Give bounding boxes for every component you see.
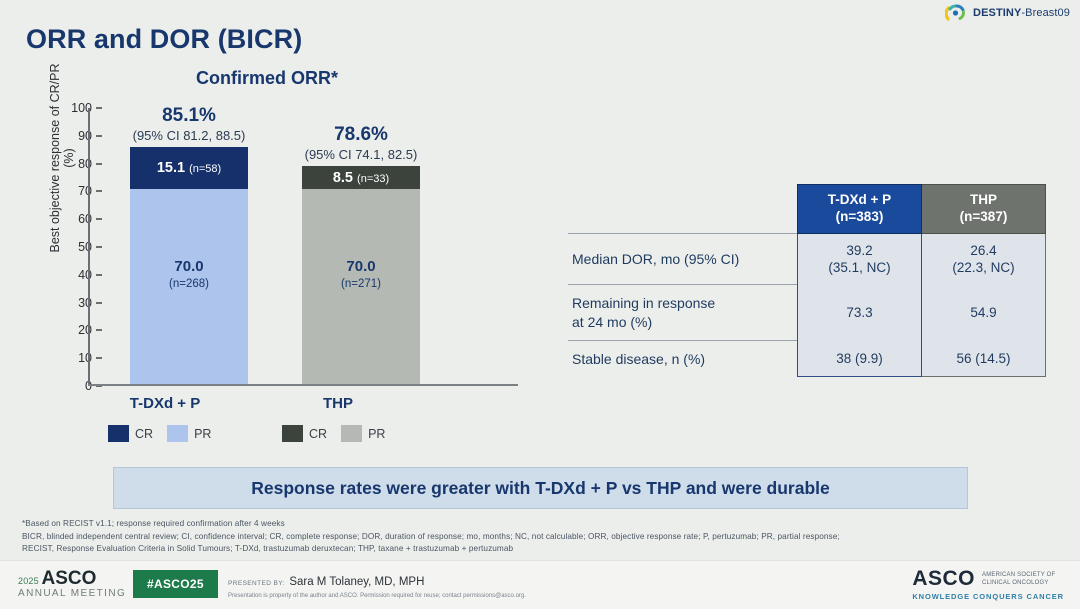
group-label-thp: THP	[248, 395, 428, 412]
y-tick-label: 30	[48, 296, 92, 310]
table-row-label-stable-disease: Stable disease, n (%)	[568, 340, 798, 377]
table-cell-stable-disease-thp: 56 (14.5)	[922, 340, 1046, 377]
bar-segment-pr-2-label: 70.0(n=271)	[302, 257, 420, 293]
chart-title: Confirmed ORR*	[196, 68, 338, 89]
legend-group-1: CR PR	[108, 425, 219, 442]
dor-table: T-DXd + P(n=383) THP(n=387) Median DOR, …	[568, 184, 1046, 377]
table-header-row: T-DXd + P(n=383) THP(n=387)	[568, 185, 1046, 234]
page-title: ORR and DOR (BICR)	[26, 24, 302, 55]
group-label-t-dxd-p: T-DXd + P	[75, 395, 255, 412]
legend-swatch-cr-1	[108, 425, 129, 442]
y-tick-mark	[96, 163, 102, 165]
table-cell-stable-disease-t-dxd-p: 38 (9.9)	[798, 340, 922, 377]
y-tick-mark	[96, 302, 102, 304]
key-message-banner: Response rates were greater with T-DXd +…	[113, 467, 968, 509]
bar-segment-pr-2: 70.0(n=271)	[302, 189, 420, 384]
y-tick-label: 0	[48, 379, 92, 393]
asco-logo: ASCO AMERICAN SOCIETY OFCLINICAL ONCOLOG…	[912, 568, 1064, 601]
permission-text: Presentation is property of the author a…	[228, 593, 526, 599]
y-tick-label: 60	[48, 212, 92, 226]
legend-swatch-pr-1	[167, 425, 188, 442]
x-axis-line	[88, 384, 518, 386]
asco-annual-meeting-logo: 2025 ASCO ANNUAL MEETING	[18, 569, 126, 599]
legend-label-cr-2: CR	[309, 427, 327, 441]
y-tick-label: 10	[48, 351, 92, 365]
table-row: Stable disease, n (%) 38 (9.9) 56 (14.5)	[568, 340, 1046, 377]
legend-label-cr-1: CR	[135, 427, 153, 441]
y-tick-label: 70	[48, 184, 92, 198]
bar-thp: 78.6% (95% CI 74.1, 82.5) 8.5 (n=33) 70.…	[302, 166, 420, 384]
hashtag-badge: #ASCO25	[133, 570, 218, 598]
y-tick-mark	[96, 329, 102, 331]
footnotes: *Based on RECIST v1.1; response required…	[22, 518, 982, 556]
table-header-thp: THP(n=387)	[922, 185, 1046, 234]
bar-segment-pr-1-label: 70.0(n=268)	[130, 257, 248, 293]
table-row: Median DOR, mo (95% CI) 39.2(35.1, NC) 2…	[568, 233, 1046, 285]
table-cell-median-dor-thp: 26.4(22.3, NC)	[922, 233, 1046, 285]
presented-by-label: PRESENTED BY:	[228, 580, 285, 587]
slide: DESTINY-Breast09 ORR and DOR (BICR) Conf…	[0, 0, 1080, 609]
destiny-logo-icon	[945, 3, 967, 22]
y-tick-mark	[96, 274, 102, 276]
y-tick-label: 50	[48, 240, 92, 254]
table-cell-remaining-response-thp: 54.9	[922, 285, 1046, 340]
asco-tagline: KNOWLEDGE CONQUERS CANCER	[912, 592, 1064, 601]
bar-segment-cr-2-label: 8.5 (n=33)	[302, 170, 420, 186]
y-tick-mark	[96, 218, 102, 220]
table-row-label-median-dor: Median DOR, mo (95% CI)	[568, 233, 798, 285]
y-tick-label: 40	[48, 268, 92, 282]
footnote-3: RECIST, Response Evaluation Criteria in …	[22, 543, 982, 556]
table-row-label-remaining-response: Remaining in responseat 24 mo (%)	[568, 285, 798, 340]
legend-group-2: CR PR	[282, 425, 393, 442]
y-tick-mark	[96, 357, 102, 359]
bar-segment-cr-2: 8.5 (n=33)	[302, 166, 420, 190]
bar-chart: Best objective response of CR/PR (%) 010…	[24, 100, 524, 390]
bar-t-dxd-p: 85.1% (95% CI 81.2, 88.5) 15.1 (n=58) 70…	[130, 147, 248, 384]
bar-segment-cr-1-label: 15.1 (n=58)	[130, 160, 248, 176]
asco-society-name: AMERICAN SOCIETY OFCLINICAL ONCOLOGY	[982, 568, 1055, 587]
study-logo: DESTINY-Breast09	[945, 3, 1070, 22]
y-tick-mark	[96, 190, 102, 192]
table-row: Remaining in responseat 24 mo (%) 73.3 5…	[568, 285, 1046, 340]
y-axis-ticks: 0102030405060708090100	[44, 100, 102, 390]
table-cell-remaining-response-t-dxd-p: 73.3	[798, 285, 922, 340]
footnote-2: BICR, blinded independent central review…	[22, 531, 982, 544]
presenter-name: Sara M Tolaney, MD, MPH	[289, 576, 424, 588]
table-cell-median-dor-t-dxd-p: 39.2(35.1, NC)	[798, 233, 922, 285]
study-logo-text: DESTINY-Breast09	[973, 7, 1070, 19]
legend-label-pr-1: PR	[194, 427, 211, 441]
y-axis-line	[88, 108, 90, 386]
y-tick-label: 20	[48, 323, 92, 337]
y-tick-label: 80	[48, 157, 92, 171]
bar-segment-pr-1: 70.0(n=268)	[130, 189, 248, 384]
bar-segment-cr-1: 15.1 (n=58)	[130, 147, 248, 189]
legend-swatch-cr-2	[282, 425, 303, 442]
bar-total-label-2: 78.6% (95% CI 74.1, 82.5)	[246, 124, 476, 162]
table-header-blank	[568, 185, 798, 234]
table-header-t-dxd-p: T-DXd + P(n=383)	[798, 185, 922, 234]
slide-footer: 2025 ASCO ANNUAL MEETING #ASCO25 PRESENT…	[0, 560, 1080, 609]
presenter-block: PRESENTED BY: Sara M Tolaney, MD, MPH Pr…	[228, 572, 526, 599]
legend-swatch-pr-2	[341, 425, 362, 442]
asco-wordmark: ASCO	[912, 568, 975, 589]
y-tick-mark	[96, 246, 102, 248]
footnote-1: *Based on RECIST v1.1; response required…	[22, 518, 982, 531]
legend-label-pr-2: PR	[368, 427, 385, 441]
